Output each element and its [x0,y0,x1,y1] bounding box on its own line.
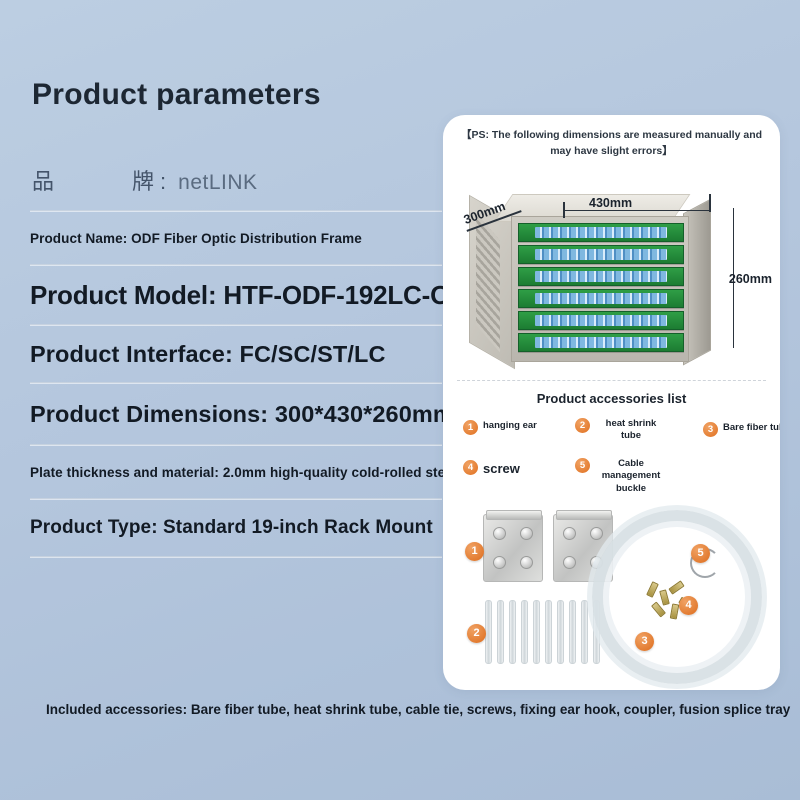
legend-label: heat shrink tube [595,418,667,444]
legend-item-hanging-ear: 1 hanging ear [463,420,549,435]
hanging-ear-bracket [483,514,543,582]
photo-badge-4: 4 [679,596,698,615]
spec-row-product-interface: Product Interface: FC/SC/ST/LC [30,326,442,382]
legend-label: Cable management buckle [595,458,667,496]
dimension-leader [563,210,711,212]
spec-text: Product Dimensions: 300*430*260mm [30,401,454,428]
spec-row-product-dimensions: Product Dimensions: 300*430*260mm [30,384,442,444]
accessories-list-title: Product accessories list [443,391,780,406]
card-divider [457,380,766,381]
photo-badge-5: 5 [691,544,710,563]
legend-item-screw: 4 screw [463,460,520,478]
accessories-legend: 1 hanging ear 2 heat shrink tube 3 Bare … [455,416,768,502]
photo-badge-1: 1 [465,542,484,561]
fiber-tray [518,267,684,286]
fiber-tray [518,289,684,308]
page-title: Product parameters [32,78,442,112]
dimension-tick [563,202,565,218]
spec-text: Product Model: HTF-ODF-192LC-OM3 [30,280,486,311]
spec-row-product-model: Product Model: HTF-ODF-192LC-OM3 [30,266,442,324]
divider [30,556,442,558]
legend-label: Bare fiber tube [723,422,780,435]
spec-text: Product Interface: FC/SC/ST/LC [30,341,386,368]
spec-row-plate-thickness: Plate thickness and material: 2.0mm high… [30,446,442,498]
fiber-tray [518,245,684,264]
legend-badge-5: 5 [575,458,590,473]
brand-row: 品 牌 : netLINK [32,164,442,196]
legend-badge-4: 4 [463,460,478,475]
legend-item-cable-management-buckle: 5 Cable management buckle [575,458,667,496]
bare-fiber-tube-coil [592,510,762,684]
spec-row-product-type: Product Type: Standard 19-inch Rack Moun… [30,500,442,556]
accessories-photo: 1 2 3 4 5 [457,504,766,679]
measurement-disclaimer: 【PS: The following dimensions are measur… [459,127,764,160]
product-parameters-page: Product parameters 品 牌 : netLINK Product… [0,0,800,800]
fiber-tray [518,223,684,242]
rack-vent-holes [476,212,500,352]
spec-list: Product parameters 品 牌 : netLINK Product… [30,78,442,558]
brand-colon: : [160,169,166,195]
legend-badge-3: 3 [703,422,718,437]
dimension-height: 260mm [729,272,772,286]
brand-value: netLINK [178,171,257,195]
legend-item-bare-fiber-tube: 3 Bare fiber tube [703,422,780,437]
included-accessories-note: Included accessories: Bare fiber tube, h… [46,702,746,717]
spec-text: Plate thickness and material: 2.0mm high… [30,465,493,480]
legend-label: hanging ear [483,420,537,433]
legend-badge-1: 1 [463,420,478,435]
fiber-tray [518,333,684,352]
dimension-tick [709,194,711,212]
legend-item-heat-shrink-tube: 2 heat shrink tube [575,418,667,444]
product-image-card: 【PS: The following dimensions are measur… [443,115,780,690]
legend-label: screw [483,460,520,478]
rack-chassis [511,216,689,362]
spec-text: Product Name: ODF Fiber Optic Distributi… [30,231,362,246]
photo-badge-3: 3 [635,632,654,651]
odf-rack-illustration [469,194,719,364]
spec-row-product-name: Product Name: ODF Fiber Optic Distributi… [30,212,442,264]
spec-text: Product Type: Standard 19-inch Rack Moun… [30,517,433,539]
product-photo: 300mm 430mm 260mm [443,164,780,374]
photo-badge-2: 2 [467,624,486,643]
legend-badge-2: 2 [575,418,590,433]
fiber-tray [518,311,684,330]
dimension-width: 430mm [589,196,632,210]
